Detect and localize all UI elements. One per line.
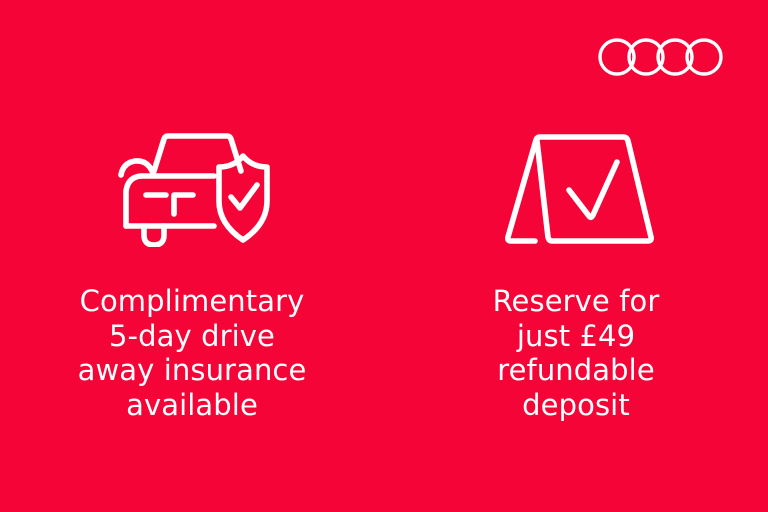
car-shield-icon — [104, 118, 280, 252]
feature-item-deposit: Reserve for just £49 refundable deposit — [384, 118, 768, 422]
audi-rings-icon — [598, 36, 724, 78]
promo-banner: Complimentary 5-day drive away insurance… — [0, 0, 768, 512]
feature-label-deposit: Reserve for just £49 refundable deposit — [493, 284, 660, 422]
audi-rings-logo — [598, 36, 724, 78]
a-frame-sign-check-icon — [493, 118, 659, 252]
feature-item-insurance: Complimentary 5-day drive away insurance… — [0, 118, 384, 422]
feature-list: Complimentary 5-day drive away insurance… — [0, 118, 768, 422]
feature-label-insurance: Complimentary 5-day drive away insurance… — [78, 284, 307, 422]
